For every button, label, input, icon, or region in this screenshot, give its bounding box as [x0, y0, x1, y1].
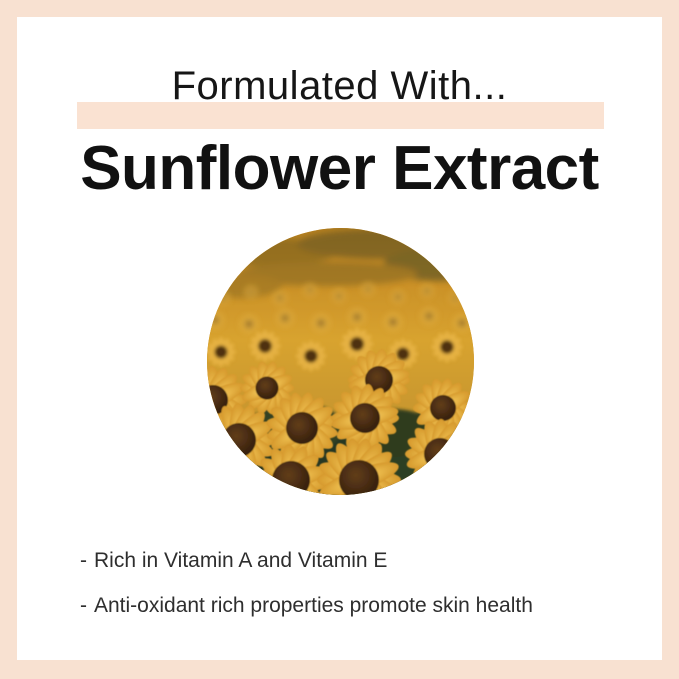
kicker-text: Formulated With... [17, 55, 662, 117]
bullet-dash-icon: - [80, 538, 94, 583]
bullet-dash-icon: - [80, 583, 94, 628]
kicker-section: Formulated With... [17, 55, 662, 121]
benefits-list: - Rich in Vitamin A and Vitamin E - Anti… [80, 538, 650, 628]
benefit-text: Rich in Vitamin A and Vitamin E [94, 538, 387, 583]
benefit-text: Anti-oxidant rich properties promote ski… [94, 583, 533, 628]
poster-inner-canvas: Formulated With... Sunflower Extract [17, 17, 662, 660]
sunflower-field-image [207, 228, 474, 495]
list-item: - Rich in Vitamin A and Vitamin E [80, 538, 650, 583]
sunflower-illustration [207, 228, 474, 495]
page-title: Sunflower Extract [17, 131, 662, 207]
product-feature-poster: Formulated With... Sunflower Extract [0, 0, 679, 679]
list-item: - Anti-oxidant rich properties promote s… [80, 583, 650, 628]
